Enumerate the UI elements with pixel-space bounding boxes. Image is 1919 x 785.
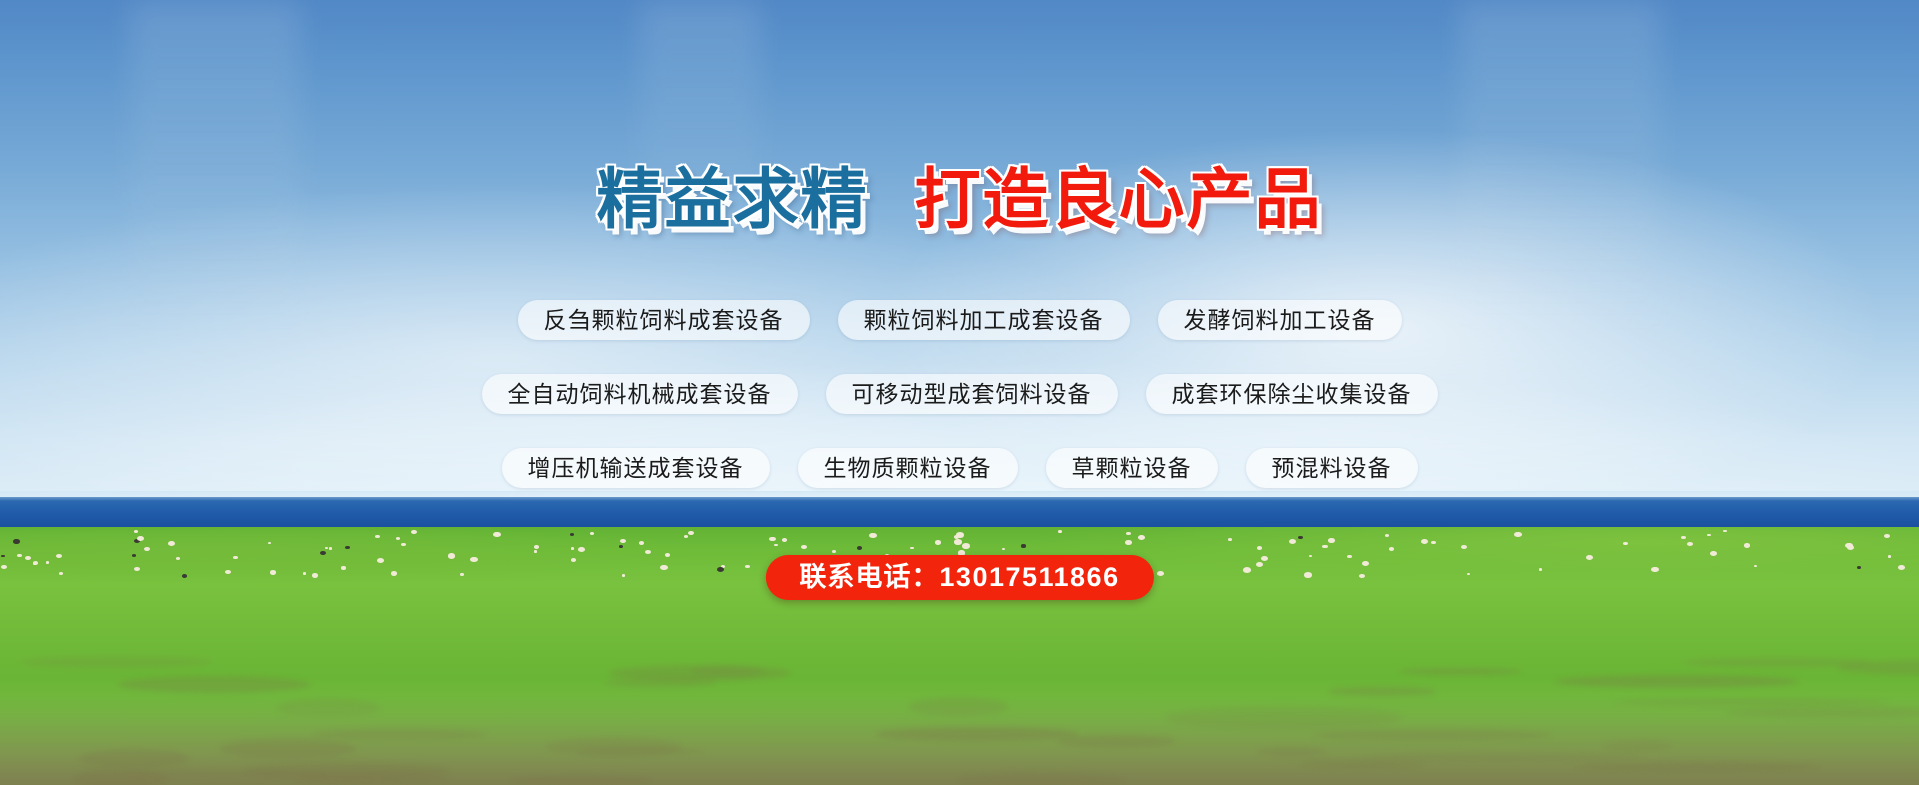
ground-patch [79,749,189,768]
ground-patch [1554,675,1798,688]
ground-patch [1328,687,1437,695]
distant-sheep [1362,561,1369,566]
distant-sheep [1884,534,1890,538]
category-pill[interactable]: 发酵饲料加工设备 [1158,300,1402,340]
distant-sheep [448,553,455,558]
ground-patch [1312,729,1552,740]
distant-sheep [954,535,959,538]
distant-sheep [1623,542,1628,545]
ground-patch [312,729,487,739]
distant-sheep [962,543,970,549]
distant-sheep [665,553,670,557]
distant-sheep [1431,541,1436,544]
category-pill[interactable]: 全自动饲料机械成套设备 [482,374,798,414]
distant-sheep [684,535,688,538]
ground-patch [1300,760,1424,768]
ground-patch [1367,752,1645,761]
distant-sheep [13,539,19,543]
category-pill-row: 反刍颗粒饲料成套设备颗粒饲料加工成套设备发酵饲料加工设备 [0,300,1919,340]
category-pill[interactable]: 草颗粒设备 [1046,448,1218,488]
distant-sheep [954,539,962,544]
distant-sheep [1385,534,1389,537]
distant-sheep [717,567,724,572]
distant-sheep [1898,565,1905,570]
distant-sheep [1,565,7,569]
distant-sheep [571,547,574,549]
distant-sheep [1138,535,1145,540]
distant-sheep [660,565,667,570]
distant-sheep [1261,556,1268,561]
distant-sheep [1539,568,1542,570]
page-title: 精益求精打造良心产品 [0,160,1919,232]
distant-sheep [1347,555,1352,558]
distant-sheep [1289,539,1296,544]
category-pill[interactable]: 反刍颗粒饲料成套设备 [518,300,810,340]
headline-red: 打造良心产品 [915,166,1323,232]
distant-sheep [578,547,585,552]
distant-sheep [320,551,326,555]
distant-sheep [17,554,22,557]
distant-sheep [341,566,346,569]
category-pill[interactable]: 可移动型成套饲料设备 [826,374,1118,414]
distant-sheep [1651,567,1658,572]
distant-sheep [1744,543,1750,547]
distant-sheep [375,535,380,538]
distant-sheep [1058,530,1062,533]
category-pill[interactable]: 成套环保除尘收集设备 [1146,374,1438,414]
distant-sheep [534,545,539,548]
distant-sheep [46,561,50,564]
distant-sheep [134,530,138,533]
distant-sheep [225,570,231,574]
distant-sheep [325,547,328,549]
distant-sheep [233,556,238,559]
distant-sheep [1389,547,1394,551]
headline-blue: 精益求精 [597,166,869,232]
distant-sheep [411,530,417,534]
distant-sheep [590,532,594,535]
distant-sheep [168,541,175,546]
distant-sheep [857,546,862,550]
distant-sheep [312,573,319,578]
hero-banner: 精益求精打造良心产品 反刍颗粒饲料成套设备颗粒饲料加工成套设备发酵饲料加工设备全… [0,0,1919,785]
distant-sheep [1243,567,1251,573]
distant-sheep [1157,571,1164,576]
distant-sheep [56,554,62,558]
ground-patch [20,656,213,668]
distant-sheep [1707,534,1711,536]
distant-sheep [782,538,788,542]
distant-sheep [1002,548,1005,550]
distant-sheep [1681,536,1686,539]
ground-patch [909,697,1008,716]
distant-sheep [1322,545,1327,549]
distant-sheep [1257,546,1263,550]
distant-sheep [869,533,877,538]
distant-sheep [1723,530,1726,532]
contact-phone-badge[interactable]: 联系电话：13017511866 [765,555,1153,600]
distant-sheep [1359,574,1366,579]
distant-sheep [769,537,776,542]
ground-patch [1577,762,1819,772]
distant-sheep [801,545,807,549]
distant-sheep [1256,562,1263,567]
distant-sheep [534,550,538,553]
distant-sheep [144,547,150,551]
distant-sheep [688,531,694,535]
distant-sheep [1754,565,1758,567]
distant-sheep [1847,545,1855,550]
category-pill-group: 反刍颗粒饲料成套设备颗粒饲料加工成套设备发酵饲料加工设备全自动饲料机械成套设备可… [0,300,1919,522]
distant-sheep [270,570,277,575]
category-pill[interactable]: 增压机输送成套设备 [502,448,770,488]
distant-sheep [1514,532,1522,537]
distant-sheep [137,536,144,541]
distant-sheep [25,556,31,560]
ground-patch [609,665,792,681]
ground-patch [1057,735,1175,748]
distant-sheep [1309,555,1312,557]
distant-sheep [745,565,750,568]
distant-sheep [622,574,625,576]
distant-sheep [639,541,644,545]
distant-sheep [832,550,836,553]
distant-sheep [1126,532,1131,535]
distant-sheep [910,547,914,550]
category-pill[interactable]: 生物质颗粒设备 [798,448,1018,488]
distant-sheep [1328,538,1334,543]
distant-sheep [493,532,501,537]
distant-sheep [1021,544,1026,547]
distant-sheep [1125,540,1132,545]
contact-number: 13017511866 [939,562,1119,592]
distant-sheep [391,571,397,575]
distant-sheep [1421,539,1428,544]
ground-patch [125,771,329,778]
distant-sheep [1461,545,1467,549]
distant-sheep [329,547,332,549]
distant-sheep [182,574,188,578]
ground-patch [510,776,651,784]
distant-sheep [1304,572,1312,577]
category-pill[interactable]: 预混料设备 [1246,448,1418,488]
distant-sheep [460,573,464,575]
category-pill-row: 全自动饲料机械成套设备可移动型成套饲料设备成套环保除尘收集设备 [0,374,1919,414]
distant-sheep [134,567,140,571]
ground-patch [1165,707,1402,728]
distant-sheep [1467,573,1470,575]
distant-sheep [1710,551,1717,556]
distant-sheep [303,572,307,575]
distant-sheep [268,542,272,545]
ground-patch [876,727,1078,741]
distant-sheep [401,543,405,546]
distant-sheep [1298,536,1303,539]
distant-sheep [33,562,36,564]
distant-sheep [396,537,400,540]
ground-patch [957,772,1124,785]
category-pill[interactable]: 颗粒饲料加工成套设备 [838,300,1130,340]
distant-sheep [935,540,942,545]
distant-sheep [132,554,136,557]
distant-sheep [645,550,651,554]
ground-patch [1399,668,1521,676]
distant-sheep [1687,542,1693,546]
distant-sheep [470,557,477,562]
distant-sheep [1888,555,1891,557]
distant-sheep [571,558,576,562]
category-pill-row: 增压机输送成套设备生物质颗粒设备草颗粒设备预混料设备 [0,448,1919,488]
ground-patch [118,676,311,693]
distant-sheep [774,544,778,547]
contact-label: 联系电话： [799,562,939,592]
distant-sheep [570,533,575,536]
distant-sheep [619,545,623,548]
distant-sheep [345,546,350,549]
distant-sheep [1228,538,1232,541]
distant-sheep [176,557,180,560]
distant-sheep [1857,566,1861,569]
distant-sheep [59,572,63,575]
distant-sheep [1,555,4,557]
distant-sheep [1586,555,1593,560]
distant-sheep [377,558,384,563]
distant-sheep [620,539,626,543]
